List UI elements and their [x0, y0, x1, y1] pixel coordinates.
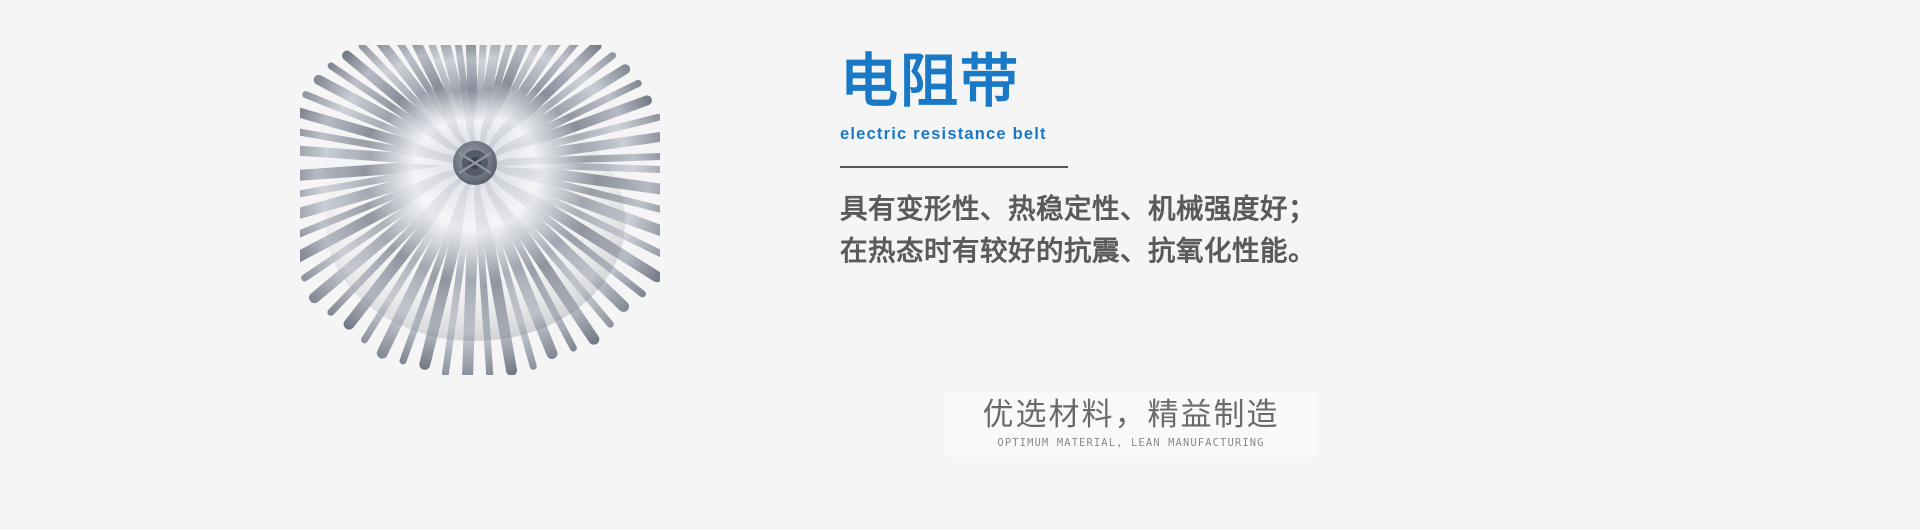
title-block: 电阻带 electric resistance belt [840, 52, 1360, 168]
page-subtitle: electric resistance belt [840, 125, 1360, 144]
tagline-english: OPTIMUM MATERIAL, LEAN MANUFACTURING [951, 437, 1311, 449]
tagline-chinese: 优选材料，精益制造 [951, 396, 1311, 434]
tagline-block: 优选材料，精益制造 OPTIMUM MATERIAL, LEAN MANUFAC… [945, 392, 1317, 457]
title-divider [840, 166, 1068, 168]
description-line-1: 具有变形性、热稳定性、机械强度好； [840, 188, 1540, 230]
product-banner: 电阻带 electric resistance belt 具有变形性、热稳定性、… [0, 0, 1920, 530]
product-description: 具有变形性、热稳定性、机械强度好； 在热态时有较好的抗震、抗氧化性能。 [840, 188, 1540, 272]
banner-content: 电阻带 electric resistance belt 具有变形性、热稳定性、… [840, 0, 1700, 530]
description-line-2: 在热态时有较好的抗震、抗氧化性能。 [840, 230, 1540, 272]
product-image [300, 45, 660, 375]
page-title: 电阻带 [840, 52, 1360, 113]
resistance-belt-illustration [300, 45, 660, 375]
